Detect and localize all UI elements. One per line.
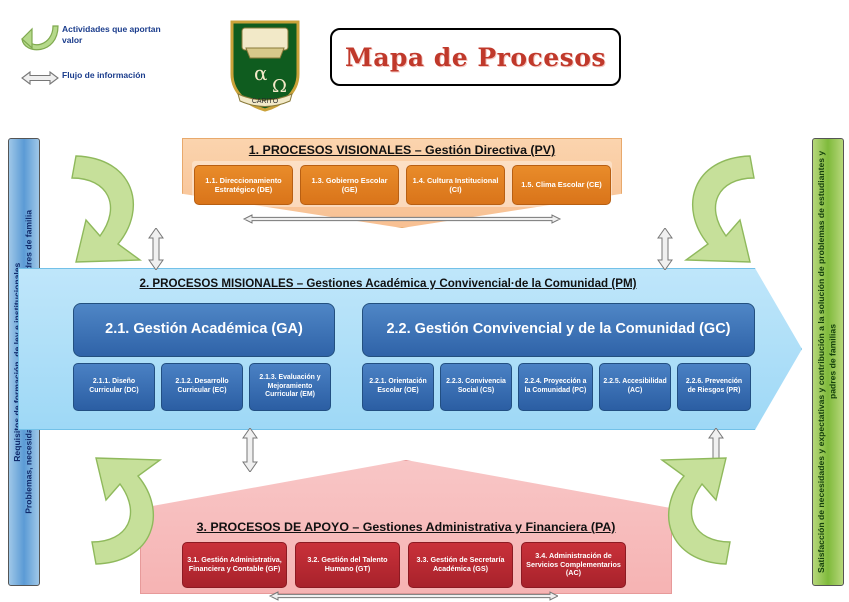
process-card-pv-3[interactable]: 1.4. Cultura Institucional (CI) (406, 165, 505, 205)
process-card-pm-226[interactable]: 2.2.6. Prevención de Riesgos (PR) (677, 363, 751, 411)
process-card-pa-4[interactable]: 3.4. Administración de Servicios Complem… (521, 542, 626, 588)
page-title-text: Mapa de Procesos (345, 43, 606, 72)
process-card-pa-3[interactable]: 3.3. Gestión de Secretaría Académica (GS… (408, 542, 513, 588)
curved-green-arrow-icon (18, 22, 62, 56)
output-sidebar: Satisfacción de necesidades y expectativ… (812, 138, 844, 586)
band-procesos-apoyo: 3. PROCESOS DE APOYO – Gestiones Adminis… (140, 460, 672, 594)
process-card-pa-2[interactable]: 3.2. Gestión del Talento Humano (GT) (295, 542, 400, 588)
group-gestion-convivencial[interactable]: 2.2. Gestión Convivencial y de la Comuni… (362, 303, 755, 357)
svg-text:CARITO: CARITO (252, 98, 279, 105)
process-card-pm-221[interactable]: 2.2.1. Orientación Escolar (OE) (362, 363, 434, 411)
band-misionales-title: 2. PROCESOS MISIONALES – Gestiones Acadé… (18, 277, 758, 290)
value-arrow-top-right-icon (664, 150, 774, 268)
band-visionales-cards: 1.1. Direccionamiento Estratégico (DE) 1… (194, 165, 611, 205)
process-card-pv-1[interactable]: 1.1. Direccionamiento Estratégico (DE) (194, 165, 293, 205)
band-apoyo-cards: 3.1. Gestión Administrativa, Financiera … (182, 542, 626, 588)
legend-item: Actividades que aportan valor (18, 22, 168, 56)
process-card-pm-211[interactable]: 2.1.1. Diseño Curricular (DC) (73, 363, 155, 411)
process-card-pv-2[interactable]: 1.3. Gobierno Escolar (GE) (300, 165, 399, 205)
process-card-pm-223[interactable]: 2.2.3. Convivencia Social (CS) (440, 363, 512, 411)
page-title: Mapa de Procesos (330, 28, 621, 86)
group-academica-cards: 2.1.1. Diseño Curricular (DC) 2.1.2. Des… (73, 363, 331, 411)
horizontal-flow-arrow-visionales (242, 212, 562, 226)
value-arrow-top-left-icon (52, 150, 162, 268)
process-map-diagram: Actividades que aportan valor Flujo de i… (0, 0, 849, 594)
process-card-pm-212[interactable]: 2.1.2. Desarrollo Curricular (EC) (161, 363, 243, 411)
legend-item: Flujo de información (18, 68, 168, 88)
process-card-pa-1[interactable]: 3.1. Gestión Administrativa, Financiera … (182, 542, 287, 588)
double-headed-gray-arrow-icon (18, 68, 62, 88)
horizontal-flow-arrow-apoyo (268, 590, 558, 602)
output-sidebar-text: Satisfacción de necesidades y expectativ… (816, 139, 839, 585)
value-arrow-bottom-left-icon (72, 452, 182, 570)
process-card-pm-224[interactable]: 2.2.4. Proyección a la Comunidad (PC) (518, 363, 593, 411)
legend-item-label: Actividades que aportan valor (62, 22, 168, 45)
value-arrow-bottom-right-icon (640, 452, 750, 570)
band-procesos-visionales: 1. PROCESOS VISIONALES – Gestión Directi… (182, 138, 622, 228)
vertical-flow-arrow-left-bottom (240, 428, 260, 472)
legend-item-label: Flujo de información (62, 68, 146, 81)
group-gestion-academica[interactable]: 2.1. Gestión Académica (GA) (73, 303, 335, 357)
school-crest-icon: α Ω CARITO (228, 18, 302, 112)
svg-text:α: α (254, 61, 268, 85)
process-card-pm-225[interactable]: 2.2.5. Accesibilidad (AC) (599, 363, 671, 411)
group-convivencial-cards: 2.2.1. Orientación Escolar (OE) 2.2.3. C… (362, 363, 751, 411)
process-card-pm-213[interactable]: 2.1.3. Evaluación y Mejoramiento Curricu… (249, 363, 331, 411)
svg-text:Ω: Ω (272, 76, 287, 97)
legend: Actividades que aportan valor Flujo de i… (18, 22, 168, 100)
band-apoyo-title: 3. PROCESOS DE APOYO – Gestiones Adminis… (140, 520, 672, 534)
process-card-pv-4[interactable]: 1.5. Clima Escolar (CE) (512, 165, 611, 205)
band-visionales-title: 1. PROCESOS VISIONALES – Gestión Directi… (182, 143, 622, 157)
band-procesos-misionales: 2. PROCESOS MISIONALES – Gestiones Acadé… (18, 268, 800, 428)
